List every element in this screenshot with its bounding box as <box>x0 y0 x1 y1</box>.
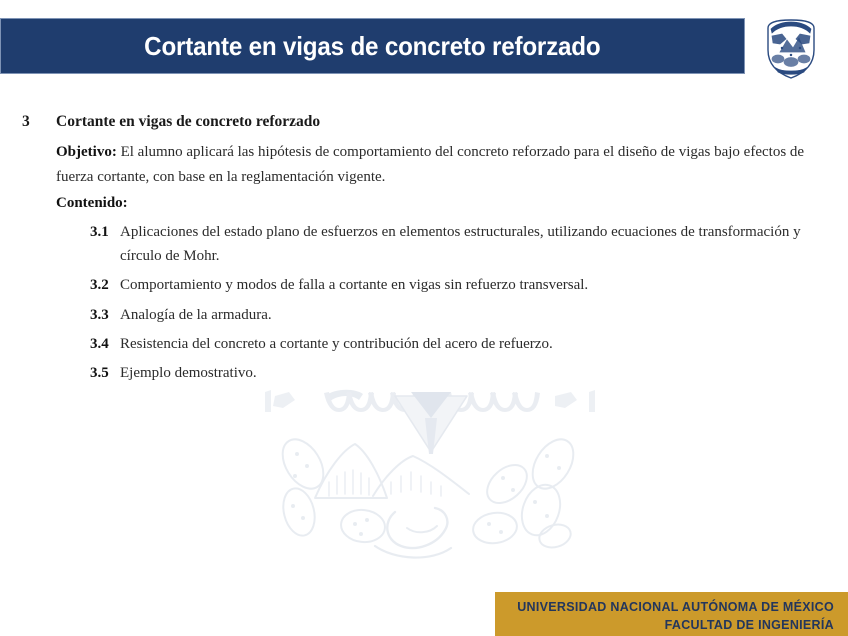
section-heading: 3 Cortante en vigas de concreto reforzad… <box>22 110 826 133</box>
page-title: Cortante en vigas de concreto reforzado <box>144 31 600 62</box>
objective-paragraph: Objetivo: El alumno aplicará las hipótes… <box>56 140 826 189</box>
list-item-number: 3.5 <box>90 361 120 385</box>
list-item-text: Aplicaciones del estado plano de esfuerz… <box>120 220 810 269</box>
unam-shield-logo <box>760 14 822 82</box>
list-item: 3.4 Resistencia del concreto a cortante … <box>90 332 810 356</box>
slide-canvas: { "header": { "title": "Cortante en viga… <box>0 0 848 636</box>
list-item-number: 3.3 <box>90 303 120 327</box>
list-item-text: Comportamiento y modos de falla a cortan… <box>120 273 810 297</box>
contents-label: Contenido: <box>56 195 826 212</box>
section-number: 3 <box>22 110 56 133</box>
list-item: 3.1 Aplicaciones del estado plano de esf… <box>90 220 810 269</box>
section-title: Cortante en vigas de concreto reforzado <box>56 110 320 133</box>
unam-shield-watermark <box>255 378 603 583</box>
header-banner: Cortante en vigas de concreto reforzado <box>0 18 745 74</box>
footer-banner: UNIVERSIDAD NACIONAL AUTÓNOMA DE MÉXICO … <box>495 592 848 636</box>
list-item-text: Resistencia del concreto a cortante y co… <box>120 332 810 356</box>
footer-faculty-name: FACULTAD DE INGENIERÍA <box>495 616 834 634</box>
list-item-text: Ejemplo demostrativo. <box>120 361 810 385</box>
list-item: 3.2 Comportamiento y modos de falla a co… <box>90 273 810 297</box>
footer-university-name: UNIVERSIDAD NACIONAL AUTÓNOMA DE MÉXICO <box>495 598 834 616</box>
list-item: 3.5 Ejemplo demostrativo. <box>90 361 810 385</box>
list-item-number: 3.1 <box>90 220 120 269</box>
contents-list: 3.1 Aplicaciones del estado plano de esf… <box>90 220 826 386</box>
list-item: 3.3 Analogía de la armadura. <box>90 303 810 327</box>
objective-text: El alumno aplicará las hipótesis de comp… <box>56 144 804 184</box>
list-item-number: 3.4 <box>90 332 120 356</box>
objective-label: Objetivo: <box>56 144 117 160</box>
slide-body: 3 Cortante en vigas de concreto reforzad… <box>0 110 848 391</box>
list-item-number: 3.2 <box>90 273 120 297</box>
list-item-text: Analogía de la armadura. <box>120 303 810 327</box>
